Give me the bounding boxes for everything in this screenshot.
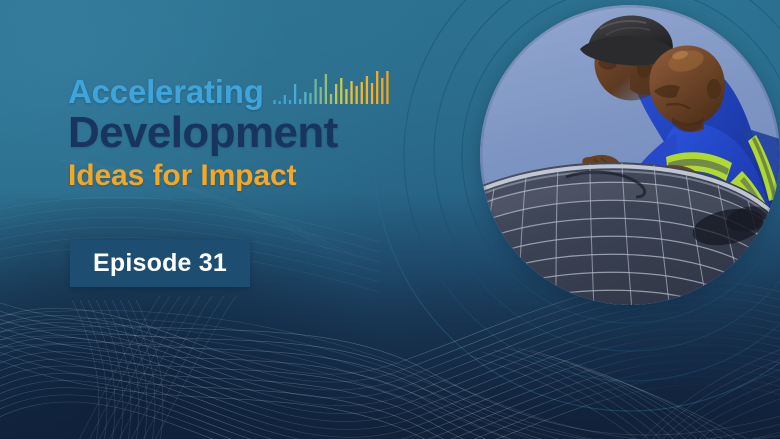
equalizer-bar <box>309 93 311 104</box>
episode-label: Episode 31 <box>93 251 227 276</box>
photo-artwork <box>480 5 780 305</box>
equalizer-bar <box>381 78 383 104</box>
equalizer-bar <box>299 99 301 104</box>
equalizer-bar <box>371 83 373 104</box>
equalizer-bar <box>360 82 362 104</box>
equalizer-bar <box>304 92 306 104</box>
podcast-episode-cover: Accelerating Development Ideas for Impac… <box>0 0 780 439</box>
episode-badge: Episode 31 <box>70 240 250 287</box>
equalizer-bar <box>335 84 337 104</box>
podcast-title-line1: Accelerating <box>68 75 264 108</box>
equalizer-bar <box>345 89 347 104</box>
equalizer-bar <box>314 79 316 104</box>
title-line-accelerating: Accelerating <box>68 72 468 108</box>
equalizer-bar <box>350 81 352 104</box>
audio-waveform-icon <box>272 71 390 107</box>
podcast-title-line2: Development <box>68 110 468 156</box>
equalizer-bar <box>324 74 326 104</box>
equalizer-bar <box>273 100 275 104</box>
equalizer-bar <box>278 101 280 104</box>
equalizer-bar <box>283 95 285 104</box>
equalizer-bar <box>355 86 357 104</box>
equalizer-bar <box>294 84 296 104</box>
equalizer-bar <box>288 100 290 104</box>
podcast-tagline: Ideas for Impact <box>68 160 468 192</box>
background-bottom-left-shade <box>0 199 380 439</box>
solar-panel-installation-photo <box>480 5 780 305</box>
equalizer-bar <box>365 76 367 104</box>
equalizer-bar <box>340 78 342 104</box>
equalizer-bar <box>319 87 321 104</box>
equalizer-bar <box>330 94 332 104</box>
title-block: Accelerating Development Ideas for Impac… <box>68 72 468 191</box>
equalizer-bar <box>386 71 388 104</box>
equalizer-bar <box>376 71 378 104</box>
